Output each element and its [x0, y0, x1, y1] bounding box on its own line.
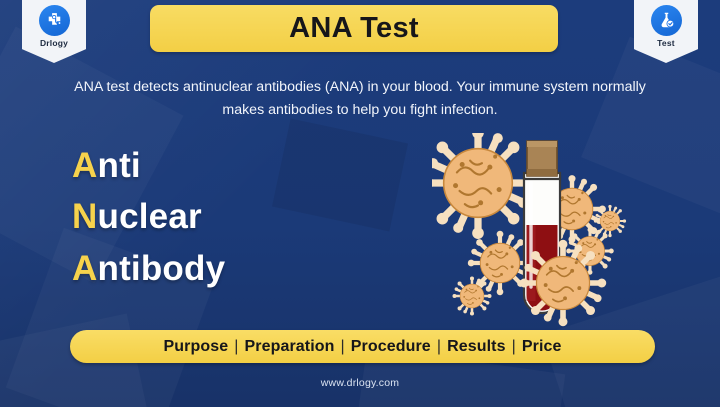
topic-preparation[interactable]: Preparation: [244, 338, 334, 355]
topics-banner: Purpose|Preparation|Procedure|Results|Pr…: [70, 330, 655, 363]
test-badge[interactable]: Test: [634, 0, 698, 63]
virus-particle: [432, 133, 534, 239]
topic-procedure[interactable]: Procedure: [351, 338, 431, 355]
virus-particle: [520, 240, 606, 326]
acronym-line-2: Nuclear: [72, 191, 402, 242]
acronym-rest: nti: [97, 146, 140, 185]
acronym-rest: uclear: [97, 197, 201, 236]
brand-badge-label: Drlogy: [40, 39, 68, 48]
brand-badge-drlogy[interactable]: Drlogy: [22, 0, 86, 63]
acronym-initial: A: [72, 249, 97, 288]
topic-separator: |: [228, 338, 244, 355]
footer-website-url[interactable]: www.drlogy.com: [0, 377, 720, 389]
topic-separator: |: [506, 338, 522, 355]
topic-purpose[interactable]: Purpose: [164, 338, 229, 355]
title-banner: ANA Test: [150, 5, 558, 52]
description-text: ANA test detects antinuclear antibodies …: [72, 76, 648, 122]
test-badge-label: Test: [657, 39, 675, 48]
topic-results[interactable]: Results: [447, 338, 506, 355]
virus-particle: [452, 276, 491, 315]
topics-list: Purpose|Preparation|Procedure|Results|Pr…: [164, 338, 562, 356]
acronym-line-3: Antibody: [72, 243, 402, 294]
flask-check-icon: [651, 5, 682, 36]
acronym-initial: N: [72, 197, 97, 236]
topic-separator: |: [431, 338, 447, 355]
acronym-initial: A: [72, 146, 97, 185]
acronym-rest: ntibody: [97, 249, 225, 288]
topic-price[interactable]: Price: [522, 338, 562, 355]
acronym-line-1: Anti: [72, 140, 402, 191]
medical-cross-stethoscope-icon: [39, 5, 70, 36]
topic-separator: |: [335, 338, 351, 355]
infographic-poster: Drlogy Test ANA Test ANA test detects an…: [0, 0, 720, 407]
page-title: ANA Test: [289, 12, 419, 45]
blood-test-tube-illustration: [432, 133, 636, 329]
acronym-expansion: Anti Nuclear Antibody: [72, 140, 402, 294]
